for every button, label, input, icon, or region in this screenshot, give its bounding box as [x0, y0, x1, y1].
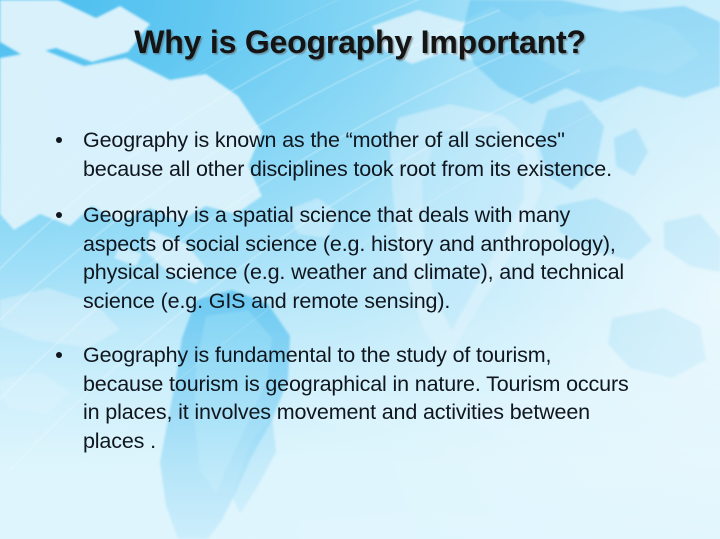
bullet-list: Geography is known as the “mother of all… — [44, 126, 712, 455]
bullet-item-1-text: Geography is known as the “mother of all… — [83, 126, 712, 183]
slide-content: Why is Geography Important? Geography is… — [0, 0, 720, 539]
bullet-item-2-text: Geography is a spatial science that deal… — [83, 201, 712, 315]
bullet-item-3: Geography is fundamental to the study of… — [44, 341, 712, 455]
bullet-item-1: Geography is known as the “mother of all… — [44, 126, 712, 183]
bullet-dot-icon — [56, 352, 62, 358]
bullet-item-2: Geography is a spatial science that deal… — [44, 201, 712, 315]
slide-title: Why is Geography Important? — [0, 24, 720, 61]
bullet-item-3-text: Geography is fundamental to the study of… — [83, 341, 712, 455]
bullet-dot-icon — [56, 212, 62, 218]
presentation-slide: Why is Geography Important? Geography is… — [0, 0, 720, 539]
bullet-dot-icon — [56, 137, 62, 143]
